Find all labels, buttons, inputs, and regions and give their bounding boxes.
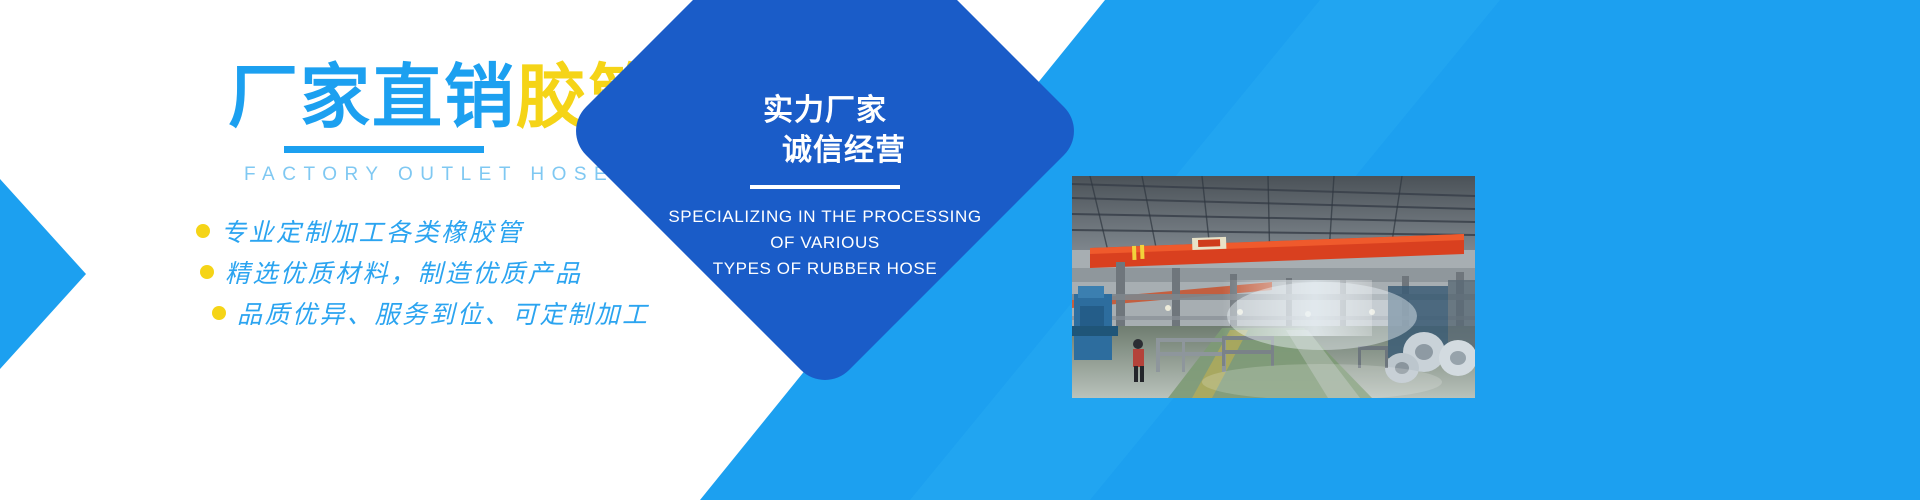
diamond-english-line2: OF VARIOUS xyxy=(668,230,981,256)
subtitle-english: FACTORY OUTLET HOSE xyxy=(226,164,516,186)
diamond-heading-line2: 诚信经营 xyxy=(744,131,906,171)
bullet-dot-icon xyxy=(200,265,214,279)
diamond-content: 实力厂家 诚信经营 SPECIALIZING IN THE PROCESSING… xyxy=(639,0,1011,317)
bullet-dot-icon xyxy=(196,224,210,238)
list-item-label: 精选优质材料，制造优质产品 xyxy=(225,254,583,290)
diamond-heading-line1: 实力厂家 xyxy=(763,94,887,127)
diamond-english-line3: TYPES OF RUBBER HOSE xyxy=(668,256,981,282)
factory-photo-illustration xyxy=(1072,176,1475,398)
feature-list: 专业定制加工各类橡胶管 精选优质材料，制造优质产品 品质优异、服务到位、可定制加… xyxy=(196,210,698,333)
diamond-english-line1: SPECIALIZING IN THE PROCESSING xyxy=(668,204,981,230)
diamond-badge: 实力厂家 诚信经营 SPECIALIZING IN THE PROCESSING… xyxy=(639,0,1011,317)
list-item: 专业定制加工各类橡胶管 xyxy=(196,210,698,251)
factory-photo xyxy=(1072,176,1475,398)
diamond-english-text: SPECIALIZING IN THE PROCESSING OF VARIOU… xyxy=(668,204,981,283)
list-item-label: 品质优异、服务到位、可定制加工 xyxy=(237,295,650,331)
bullet-dot-icon xyxy=(212,306,226,320)
promo-banner: 厂家直销胶管 FACTORY OUTLET HOSE 专业定制加工各类橡胶管 精… xyxy=(0,0,1920,500)
diamond-divider xyxy=(750,185,900,189)
diamond-heading: 实力厂家 诚信经营 xyxy=(744,91,906,170)
list-item: 精选优质材料，制造优质产品 xyxy=(196,251,698,292)
list-item: 品质优异、服务到位、可定制加工 xyxy=(196,292,698,333)
title-underline-rule xyxy=(284,146,484,153)
list-item-label: 专业定制加工各类橡胶管 xyxy=(221,213,524,249)
left-chevron-icon xyxy=(0,168,140,380)
title-part-primary: 厂家直销 xyxy=(228,58,516,136)
